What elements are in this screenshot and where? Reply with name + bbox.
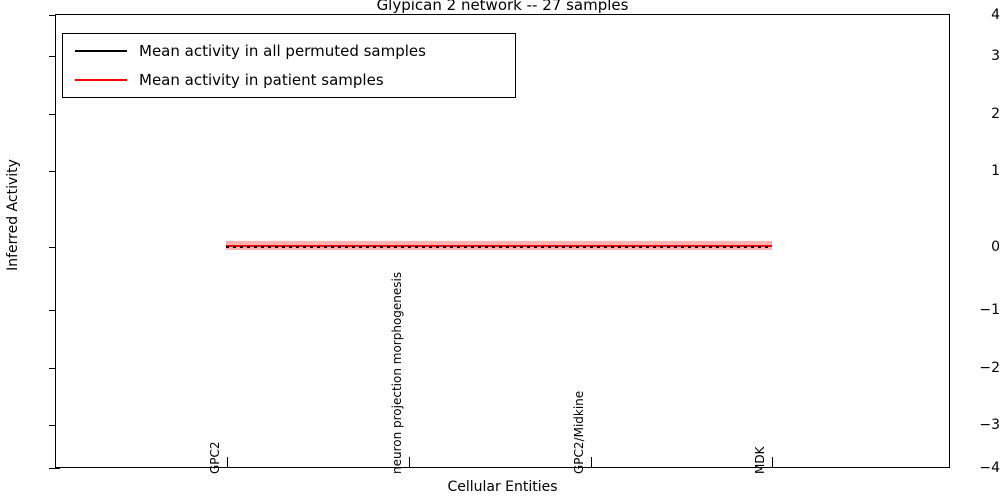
legend-swatch-patient: [75, 79, 127, 81]
x-tick-mark-inner-neuron-projection-morphogenesis: [409, 457, 410, 462]
x-tick-mark-inner-mdk: [772, 457, 773, 462]
legend-label-patient: Mean activity in patient samples: [139, 70, 384, 90]
y-tick-label-neg4: −4: [956, 461, 1000, 475]
x-tick-label-gpc2-midkine: GPC2/Midkine: [573, 391, 585, 474]
y-tick-label-1: 1: [956, 164, 1000, 178]
figure-canvas: Glypican 2 network -- 27 samples Inferre…: [0, 0, 1000, 500]
y-tick-label-3: 3: [956, 49, 1000, 63]
permuted-mean-line: [226, 246, 772, 248]
chart-title: Glypican 2 network -- 27 samples: [55, 0, 950, 14]
y-tick-label-neg1: −1: [956, 303, 1000, 317]
x-tick-mark-neuron-projection-morphogenesis: [409, 462, 410, 468]
legend-entry-permuted: Mean activity in all permuted samples: [63, 37, 515, 65]
y-tick-label-neg2: −2: [956, 361, 1000, 375]
legend-swatch-permuted: [75, 50, 127, 52]
legend-label-permuted: Mean activity in all permuted samples: [139, 41, 426, 61]
y-tick-label-4: 4: [956, 8, 1000, 22]
x-axis-label: Cellular Entities: [55, 479, 950, 495]
x-tick-label-neuron-projection-morphogenesis: neuron projection morphogenesis: [391, 272, 403, 474]
y-axis-label: Inferred Activity: [5, 140, 21, 290]
y-tick-label-2: 2: [956, 107, 1000, 121]
x-tick-mark-gpc2-midkine: [591, 462, 592, 468]
y-tick-mark-inner-neg4: [55, 468, 60, 469]
x-tick-mark-mdk: [772, 462, 773, 468]
legend-entry-patient: Mean activity in patient samples: [63, 66, 515, 94]
x-tick-mark-inner-gpc2: [227, 457, 228, 462]
y-tick-label-neg3: −3: [956, 418, 1000, 432]
x-tick-label-gpc2: GPC2: [209, 441, 221, 474]
x-tick-mark-gpc2: [227, 462, 228, 468]
x-tick-mark-inner-gpc2-midkine: [591, 457, 592, 462]
legend: Mean activity in all permuted samples Me…: [62, 33, 516, 98]
y-tick-label-0: 0: [956, 240, 1000, 254]
x-tick-label-mdk: MDK: [754, 447, 766, 474]
